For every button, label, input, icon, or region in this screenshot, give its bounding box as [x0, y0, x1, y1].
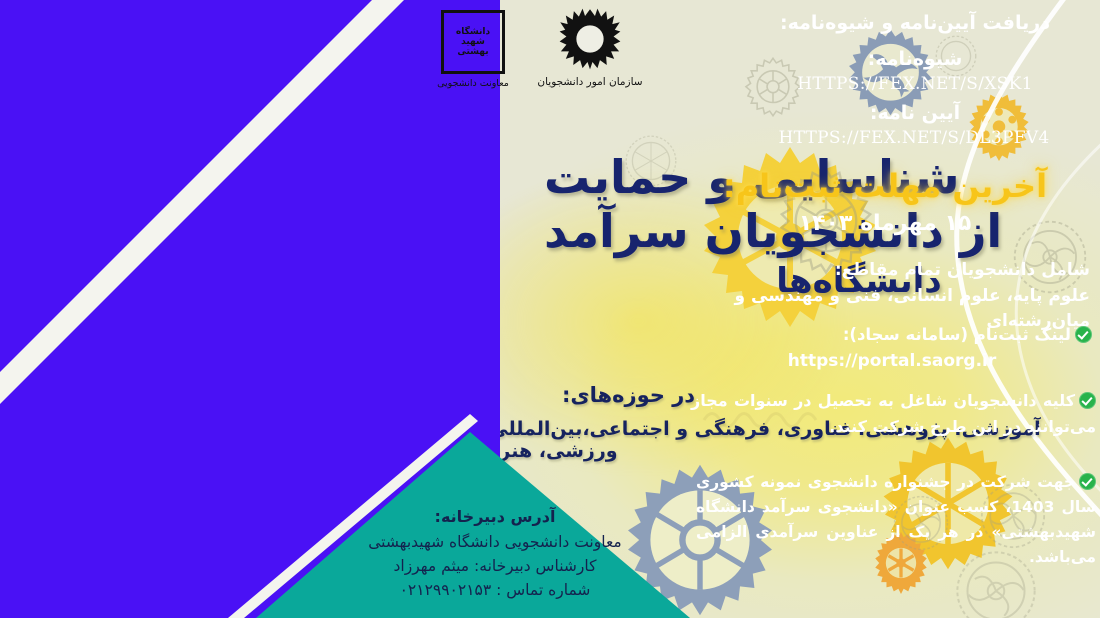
ayinnameh-label: آیین نامه: — [750, 100, 1080, 128]
shivehnameh-label: شیوه‌نامه: — [750, 46, 1080, 74]
bullet-2-text: کلیه دانشجویان شاغل به تحصیل در سنوات مج… — [691, 391, 1096, 436]
deadline-title: آخرین مهلت ثبت‌نام: — [676, 163, 1094, 209]
deadline-date: ۱۵ مهرماه ۱۴۰۳ — [676, 208, 1094, 240]
student-affairs-starburst-logo-icon — [559, 55, 621, 74]
check-icon — [1075, 326, 1092, 343]
secretariat-title: آدرس دبیرخانه: — [310, 505, 680, 530]
organization-logo: سازمان امور دانشجویان — [526, 8, 654, 89]
check-icon — [1079, 392, 1096, 409]
shahid-beheshti-square-logo-icon: دانشگاه شهید بهشتی — [441, 10, 505, 74]
download-heading: دریافت آیین‌نامه و شیوه‌نامه: — [750, 10, 1080, 38]
secretariat-line-2: کارشناس دبیرخانه: میثم مهرزاد — [310, 554, 680, 578]
bullet-item-2: کلیه دانشجویان شاغل به تحصیل در سنوات مج… — [691, 388, 1096, 439]
bullet-item-3: جهت شرکت در جشنواره دانشجوی نمونه کشوری … — [696, 470, 1096, 570]
secretariat-block: آدرس دبیرخانه: معاونت دانشجویی دانشگاه ش… — [310, 505, 680, 602]
ayinnameh-url[interactable]: HTTPS://FEX.NET/S/DL3PFV4 — [744, 126, 1084, 151]
bullet-item-1: لینک ثبت‌نام (سامانه سجاد): — [692, 325, 1092, 344]
shivehnameh-url[interactable]: HTTPS://FEX.NET/S/XSK1 — [750, 72, 1080, 97]
university-logo: دانشگاه شهید بهشتی معاونت دانشجویی — [430, 10, 516, 89]
secretariat-line-1: معاونت دانشجویی دانشگاه شهیدبهشتی — [310, 530, 680, 554]
logo-group: دانشگاه شهید بهشتی معاونت دانشجویی سازما… — [430, 6, 660, 111]
included-title: شامل دانشجویان تمام مقاطع: — [680, 258, 1090, 283]
registration-url[interactable]: https://portal.saorg.ir — [692, 349, 1092, 374]
check-icon — [1079, 473, 1096, 490]
university-logo-caption: معاونت دانشجویی — [430, 78, 516, 89]
organization-logo-caption: سازمان امور دانشجویان — [526, 76, 654, 89]
bullet-1-text: لینک ثبت‌نام (سامانه سجاد): — [843, 325, 1071, 344]
bullet-3-text: جهت شرکت در جشنواره دانشجوی نمونه کشوری … — [696, 473, 1096, 566]
secretariat-phone: شماره تماس : ۰۲۱۲۹۹۰۲۱۵۳ — [310, 578, 680, 602]
poster: شناسایی و حمایت از دانشجویان سرآمد دانشگ… — [0, 0, 1100, 618]
